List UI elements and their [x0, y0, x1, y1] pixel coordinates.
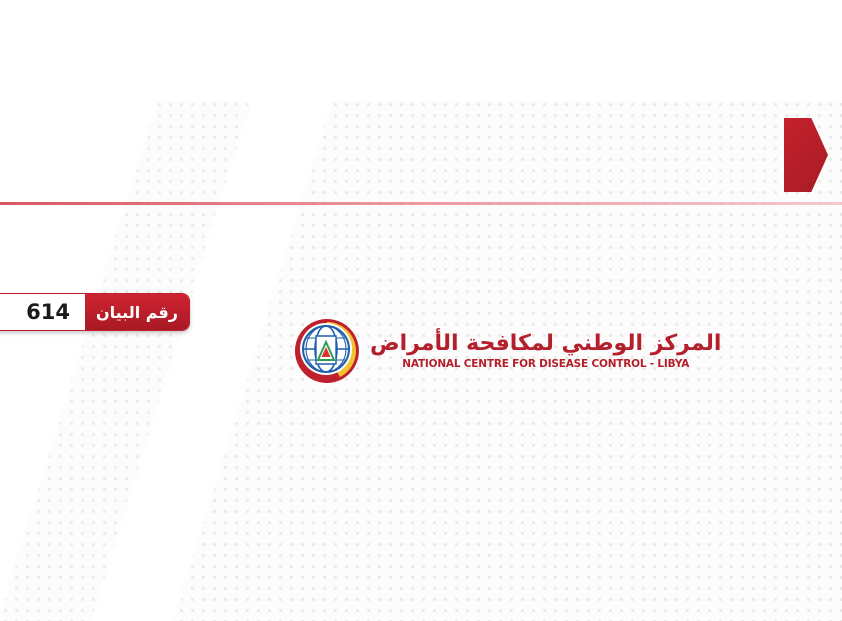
logo-arabic-name: المركز الوطني لمكافحة الأمراض — [370, 332, 721, 356]
logo-english-name: NATIONAL CENTRE FOR DISEASE CONTROL - LI… — [370, 358, 721, 370]
header-strip — [0, 0, 842, 101]
ncdc-globe-icon — [292, 316, 362, 386]
left-hex-accent — [784, 118, 828, 192]
report-number-value: 614 — [11, 294, 85, 330]
header-divider — [0, 202, 842, 205]
report-number-label: رقم البيان — [85, 294, 189, 330]
infographic-canvas: رقم البيان 614 المركز الوطني لمكافحة — [0, 0, 842, 621]
report-number-badge: رقم البيان 614 — [0, 293, 190, 331]
ncdc-logo: المركز الوطني لمكافحة الأمراض NATIONAL C… — [292, 316, 842, 386]
